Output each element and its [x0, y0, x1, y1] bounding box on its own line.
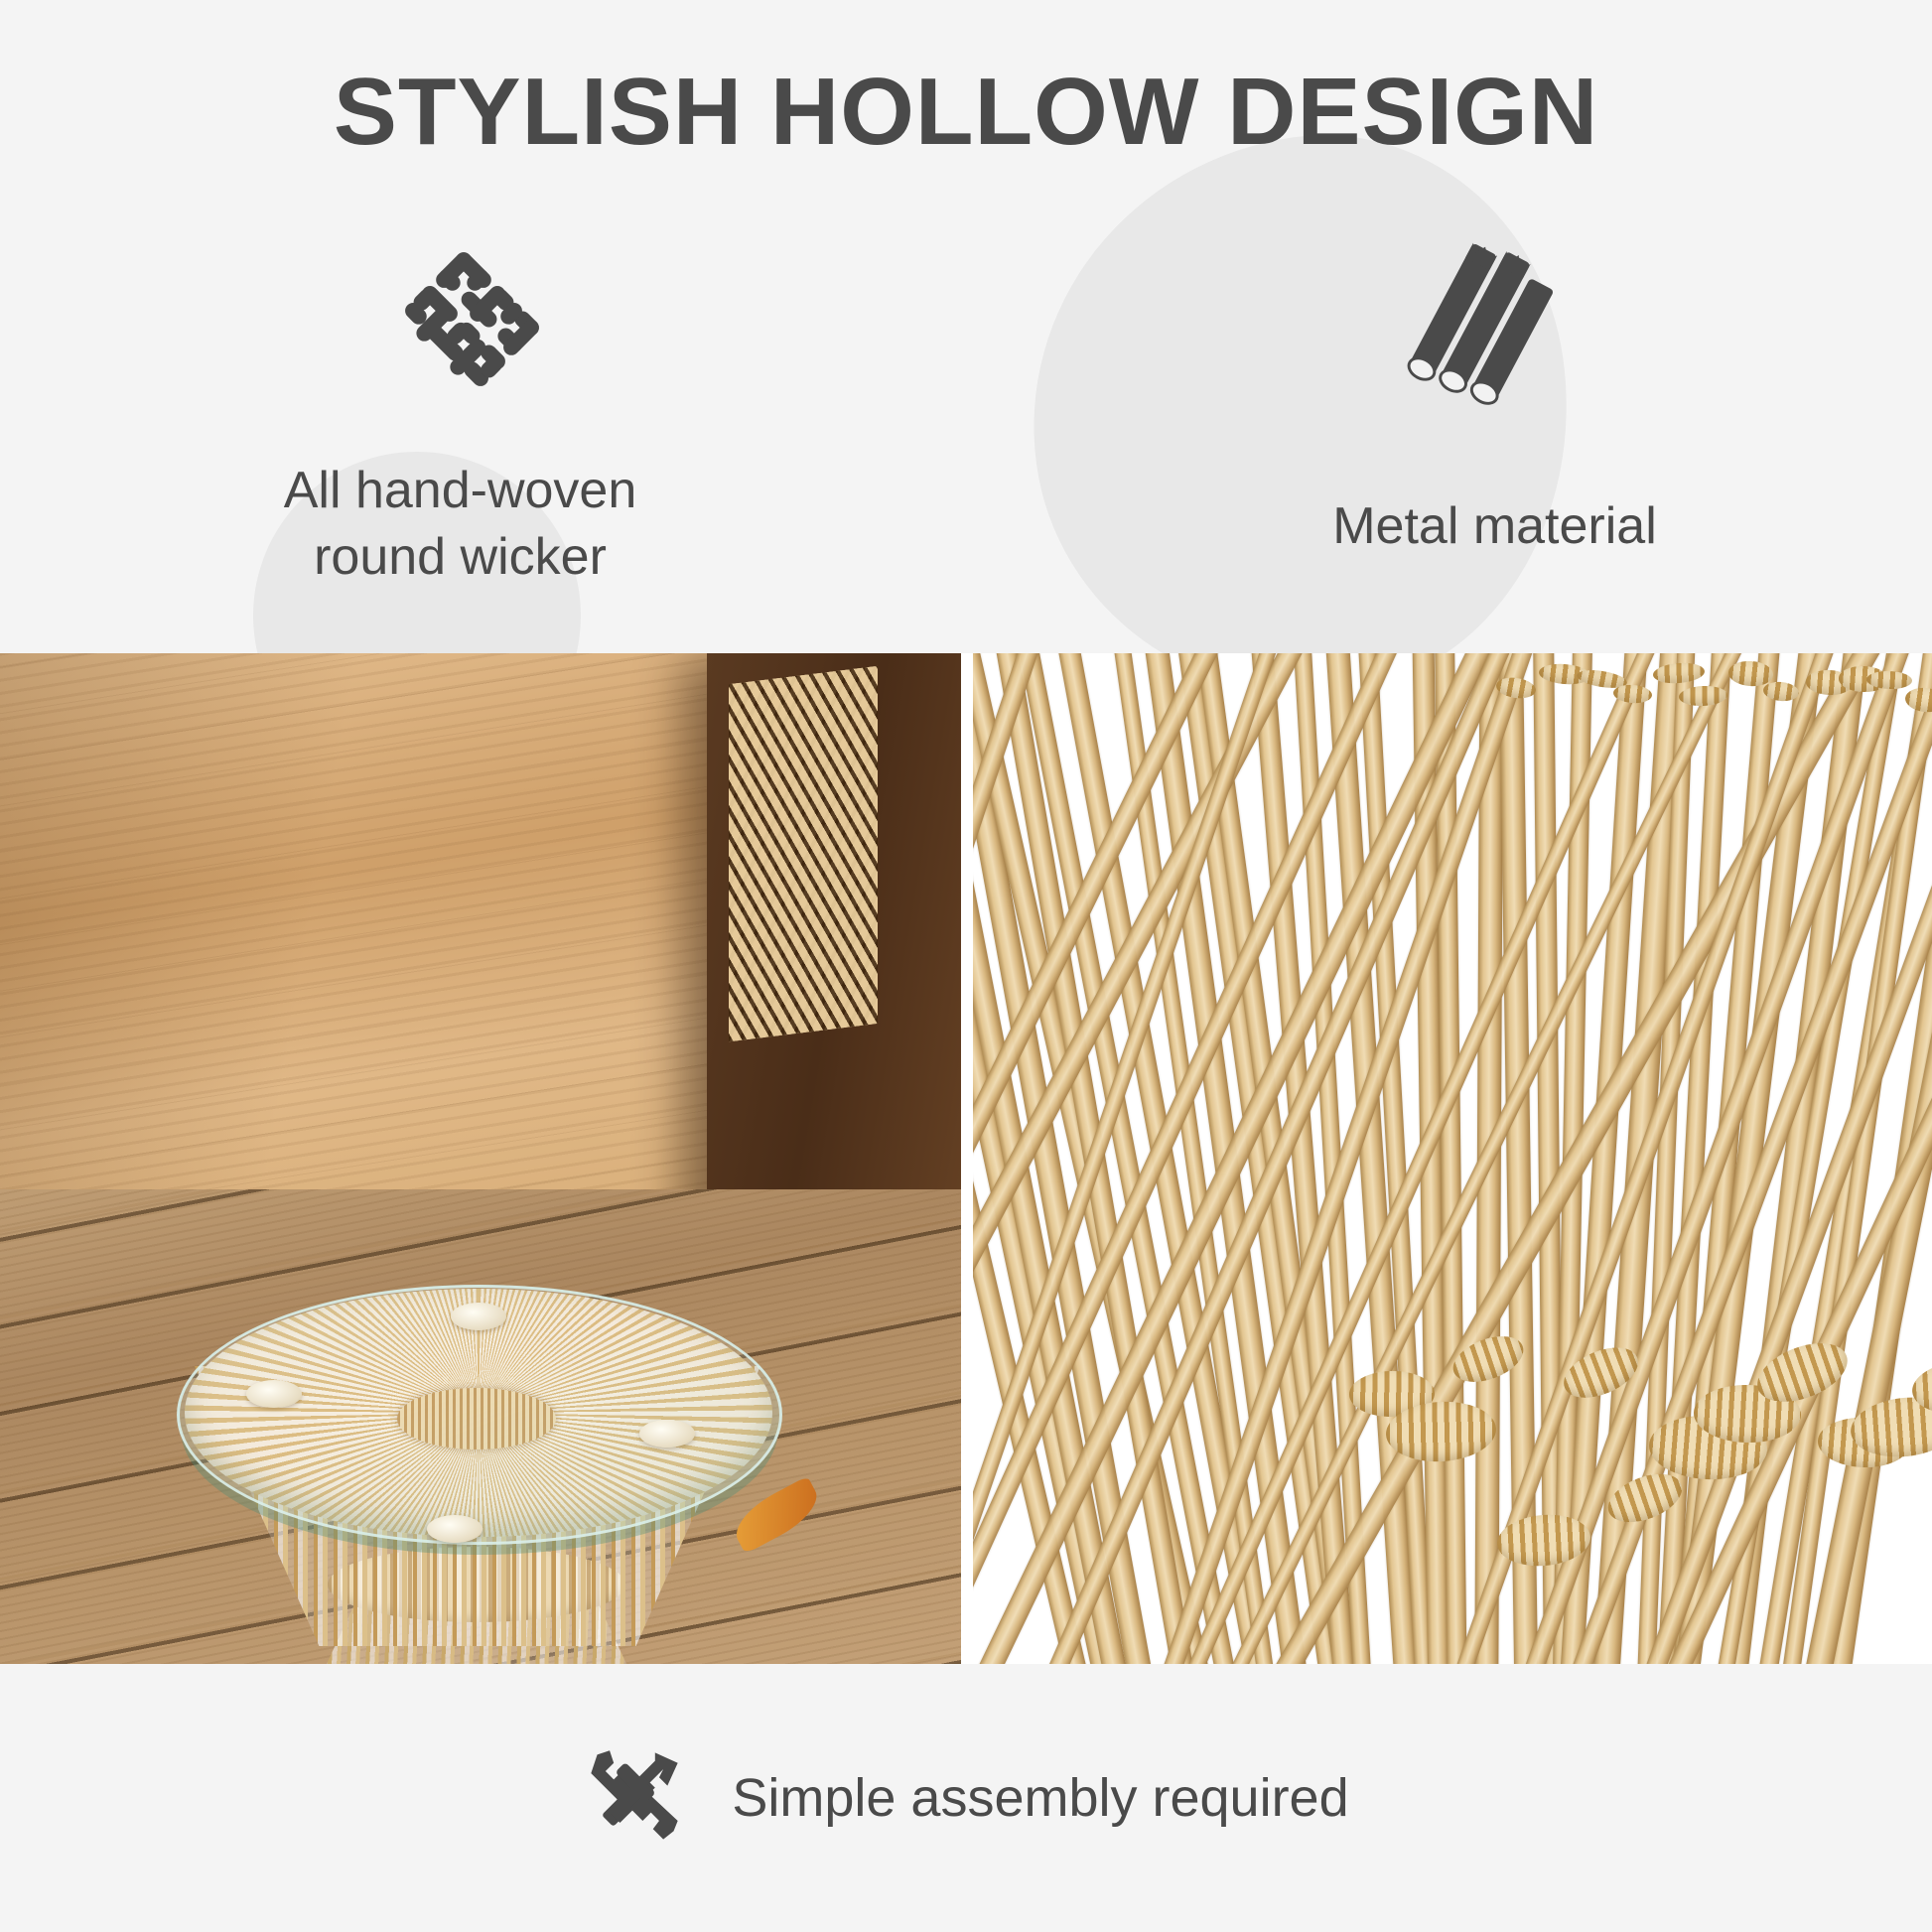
feature-label-line1: All hand-woven: [284, 458, 637, 524]
rattan-side-table-in-room-photo: [0, 653, 961, 1664]
glass-pad: [639, 1420, 695, 1448]
feature-item-hand-woven: All hand-woven round wicker: [0, 228, 966, 645]
glass-pad: [246, 1380, 302, 1408]
woven-wicker-icon: [364, 228, 563, 432]
rattan-strands: [973, 653, 1932, 1664]
feature-label-line1: Metal material: [1332, 493, 1657, 560]
page-title: STYLISH HOLLOW DESIGN: [0, 58, 1932, 167]
footer-label: Simple assembly required: [732, 1767, 1348, 1829]
glass-pad: [451, 1303, 506, 1330]
tools-icon: [583, 1744, 686, 1853]
feature-list: All hand-woven round wicker: [0, 228, 1932, 645]
feature-item-metal-material: Metal material: [966, 228, 1932, 645]
cane-cabinet: [707, 653, 961, 1283]
cabinet-cane-panel: [729, 666, 878, 1041]
metal-tubes-icon: [1378, 228, 1587, 442]
rattan-loop-cap: [1904, 686, 1932, 714]
header-section: STYLISH HOLLOW DESIGN: [0, 0, 1932, 653]
glass-pad: [427, 1515, 483, 1543]
feature-label-hand-woven: All hand-woven round wicker: [284, 458, 637, 590]
feature-label-line2: round wicker: [284, 524, 637, 591]
rattan-weave-closeup-photo: [973, 653, 1932, 1664]
product-gallery: [0, 653, 1932, 1664]
footer-section: Simple assembly required: [0, 1664, 1932, 1932]
feature-label-metal-material: Metal material: [1332, 493, 1657, 560]
